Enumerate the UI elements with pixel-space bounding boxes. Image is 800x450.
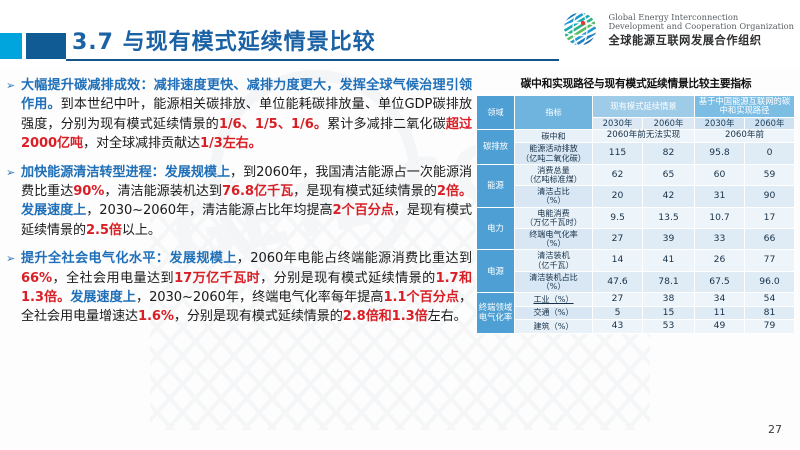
title-underline-rule: [66, 59, 559, 61]
header-scenario-existing: 现有模式延续情景: [593, 96, 695, 118]
value-cell: 43: [593, 320, 643, 333]
value-cell: 42: [643, 186, 695, 207]
value-cell: 115: [593, 143, 643, 164]
table-row: 清洁占比（%）20423190: [477, 186, 795, 207]
value-cell: 2060年前无法实现: [593, 130, 695, 143]
text-segment: ，2030~2060年，清洁能源占比年均提高: [86, 203, 332, 218]
text-segment: 提升全社会电气化水平：发展规模上: [21, 251, 237, 266]
value-cell: 0: [745, 143, 795, 164]
table-header-row: 领域指标现有模式延续情景基于中国能源互联网的碳中和实现路径: [477, 96, 795, 118]
value-cell: 2060年前: [695, 130, 795, 143]
bullet-arrow-icon: ➢: [6, 163, 21, 241]
text-segment: 66%: [21, 271, 52, 286]
value-cell: 78.1: [643, 271, 695, 292]
text-segment: 76.8亿千瓦: [222, 184, 293, 199]
header-scenario-geidco: 基于中国能源互联网的碳中和实现路径: [695, 96, 795, 118]
text-segment: ，分别是现有模式延续情景的: [260, 271, 436, 286]
header-domain: 领域: [477, 96, 515, 130]
text-segment: ，2060年电能占终端能源消费比重达到: [237, 251, 472, 266]
logo-chinese-name: 全球能源互联网发展合作组织: [608, 34, 794, 47]
bullet-text: 提升全社会电气化水平：发展规模上，2060年电能占终端能源消费比重达到66%，全…: [21, 249, 472, 327]
page-number: 27: [768, 423, 782, 436]
slide-header: 3.7 与现有模式延续情景比较: [0, 0, 800, 68]
value-cell: 60: [695, 164, 745, 185]
value-cell: 95.8: [695, 143, 745, 164]
indicator-label: 电能消费（万亿千瓦时）: [515, 207, 593, 228]
table-row: 能源活动排放（亿吨二氧化碳）1158295.80: [477, 143, 795, 164]
text-segment: 发展速度上: [21, 203, 86, 218]
domain-label: 终端领域电气化率: [477, 293, 515, 333]
header-year: 2030年: [695, 117, 745, 130]
value-cell: 27: [593, 293, 643, 306]
value-cell: 10.7: [695, 207, 745, 228]
text-segment: 1.1个百分点: [383, 290, 459, 305]
value-cell: 15: [643, 306, 695, 319]
table-row: 终端领域电气化率工业（%）27383454: [477, 293, 795, 306]
table-row: 交通（%）5151181: [477, 306, 795, 319]
table-row: 能源消费总量（亿吨标准煤）62656059: [477, 164, 795, 185]
value-cell: 49: [695, 320, 745, 333]
text-segment: 1.6%: [138, 309, 174, 324]
value-cell: 13.5: [643, 207, 695, 228]
table-row: 碳排放碳中和2060年前无法实现2060年前: [477, 130, 795, 143]
text-segment: 加快能源清洁转型进程：发展规模上: [21, 165, 230, 180]
text-segment: 2个百分点: [333, 203, 394, 218]
value-cell: 77: [745, 250, 795, 271]
value-cell: 81: [745, 306, 795, 319]
text-segment: 1/3左右。: [200, 136, 262, 151]
value-cell: 20: [593, 186, 643, 207]
bullet-paragraph: ➢大幅提升碳减排成效：减排速度更快、减排力度更大，发挥全球气候治理引领作用。到本…: [6, 76, 472, 154]
value-cell: 27: [593, 229, 643, 250]
text-segment: 90%: [73, 184, 104, 199]
bullet-arrow-icon: ➢: [6, 249, 21, 327]
indicator-label: 交通（%）: [515, 306, 593, 319]
table-row: 终端电气化率（%）27393366: [477, 229, 795, 250]
indicator-label: 消费总量（亿吨标准煤）: [515, 164, 593, 185]
header-indicator: 指标: [515, 96, 593, 130]
text-segment: 17万亿千瓦时: [174, 271, 260, 286]
value-cell: 53: [643, 320, 695, 333]
value-cell: 38: [643, 293, 695, 306]
table-row: 清洁装机占比（%）47.678.167.596.0: [477, 271, 795, 292]
value-cell: 39: [643, 229, 695, 250]
indicator-label: 终端电气化率（%）: [515, 229, 593, 250]
value-cell: 9.5: [593, 207, 643, 228]
comparison-table-panel: 碳中和实现路径与现有模式延续情景比较主要指标 领域指标现有模式延续情景基于中国能…: [476, 76, 796, 334]
value-cell: 33: [695, 229, 745, 250]
accent-chip-navy: [26, 33, 66, 59]
value-cell: 31: [695, 186, 745, 207]
value-cell: 79: [745, 320, 795, 333]
bullet-list: ➢大幅提升碳减排成效：减排速度更快、减排力度更大，发挥全球气候治理引领作用。到本…: [6, 76, 472, 426]
table-row: 建筑（%）43534979: [477, 320, 795, 333]
value-cell: 62: [593, 164, 643, 185]
header-year: 2060年: [643, 117, 695, 130]
table-title: 碳中和实现路径与现有模式延续情景比较主要指标: [476, 76, 796, 91]
value-cell: 90: [745, 186, 795, 207]
page-title: 3.7 与现有模式延续情景比较: [72, 24, 376, 56]
text-segment: 以上。: [122, 223, 161, 238]
domain-label: 电源: [477, 250, 515, 293]
value-cell: 54: [745, 293, 795, 306]
table-row: 电源清洁装机（亿千瓦）14412677: [477, 250, 795, 271]
text-segment: ，对全球减排贡献达: [83, 136, 200, 151]
value-cell: 59: [745, 164, 795, 185]
logo-english-line-2: Development and Cooperation Organization: [608, 22, 794, 32]
text-segment: 累计多减排二氧化碳: [327, 117, 446, 132]
slide-root: GEIDCO 3.7 与现有模式延续情景比较: [0, 0, 800, 450]
comparison-table: 领域指标现有模式延续情景基于中国能源互联网的碳中和实现路径2030年2060年2…: [476, 95, 795, 334]
value-cell: 5: [593, 306, 643, 319]
text-segment: 发展速度上: [70, 290, 136, 305]
text-segment: 1/6、1/5、1/6。: [219, 117, 327, 132]
table-row: 电力电能消费（万亿千瓦时）9.513.510.717: [477, 207, 795, 228]
indicator-label: 能源活动排放（亿吨二氧化碳）: [515, 143, 593, 164]
value-cell: 47.6: [593, 271, 643, 292]
value-cell: 65: [643, 164, 695, 185]
text-segment: 2倍。: [437, 184, 472, 199]
value-cell: 96.0: [745, 271, 795, 292]
bullet-arrow-icon: ➢: [6, 76, 21, 154]
indicator-label: 工业（%）: [515, 293, 593, 306]
indicator-label: 清洁装机（亿千瓦）: [515, 250, 593, 271]
bullet-paragraph: ➢提升全社会电气化水平：发展规模上，2060年电能占终端能源消费比重达到66%，…: [6, 249, 472, 327]
value-cell: 26: [695, 250, 745, 271]
indicator-label: 清洁占比（%）: [515, 186, 593, 207]
indicator-label: 清洁装机占比（%）: [515, 271, 593, 292]
globe-icon: [558, 8, 602, 52]
text-segment: ，分别是现有模式延续情景的: [174, 309, 343, 324]
indicator-label: 建筑（%）: [515, 320, 593, 333]
text-segment: 2.5倍: [86, 223, 122, 238]
value-cell: 34: [695, 293, 745, 306]
value-cell: 14: [593, 250, 643, 271]
text-segment: 左右。: [428, 309, 467, 324]
text-segment: ，是现有模式延续情景的: [293, 184, 437, 199]
text-segment: ，清洁能源装机达到: [104, 184, 222, 199]
domain-label: 能源: [477, 164, 515, 207]
value-cell: 11: [695, 306, 745, 319]
bullet-text: 加快能源清洁转型进程：发展规模上，到2060年，我国清洁能源占一次能源消费比重达…: [21, 163, 472, 241]
text-segment: ，全社会用电量达到: [52, 271, 174, 286]
logo-text-block: Global Energy Interconnection Developmen…: [608, 13, 794, 48]
value-cell: 82: [643, 143, 695, 164]
bullet-paragraph: ➢加快能源清洁转型进程：发展规模上，到2060年，我国清洁能源占一次能源消费比重…: [6, 163, 472, 241]
domain-label: 碳排放: [477, 130, 515, 164]
bullet-text: 大幅提升碳减排成效：减排速度更快、减排力度更大，发挥全球气候治理引领作用。到本世…: [21, 76, 472, 154]
accent-chip-cyan: [0, 33, 22, 59]
header-year: 2060年: [745, 117, 795, 130]
text-segment: 2.8倍和1.3倍: [343, 309, 428, 324]
indicator-label: 碳中和: [515, 130, 593, 143]
value-cell: 17: [745, 207, 795, 228]
header-year: 2030年: [593, 117, 643, 130]
value-cell: 67.5: [695, 271, 745, 292]
domain-label: 电力: [477, 207, 515, 250]
value-cell: 66: [745, 229, 795, 250]
organization-logo: Global Energy Interconnection Developmen…: [558, 8, 794, 52]
value-cell: 41: [643, 250, 695, 271]
text-segment: ，2030~2060年，终端电气化率每年提高: [136, 290, 384, 305]
